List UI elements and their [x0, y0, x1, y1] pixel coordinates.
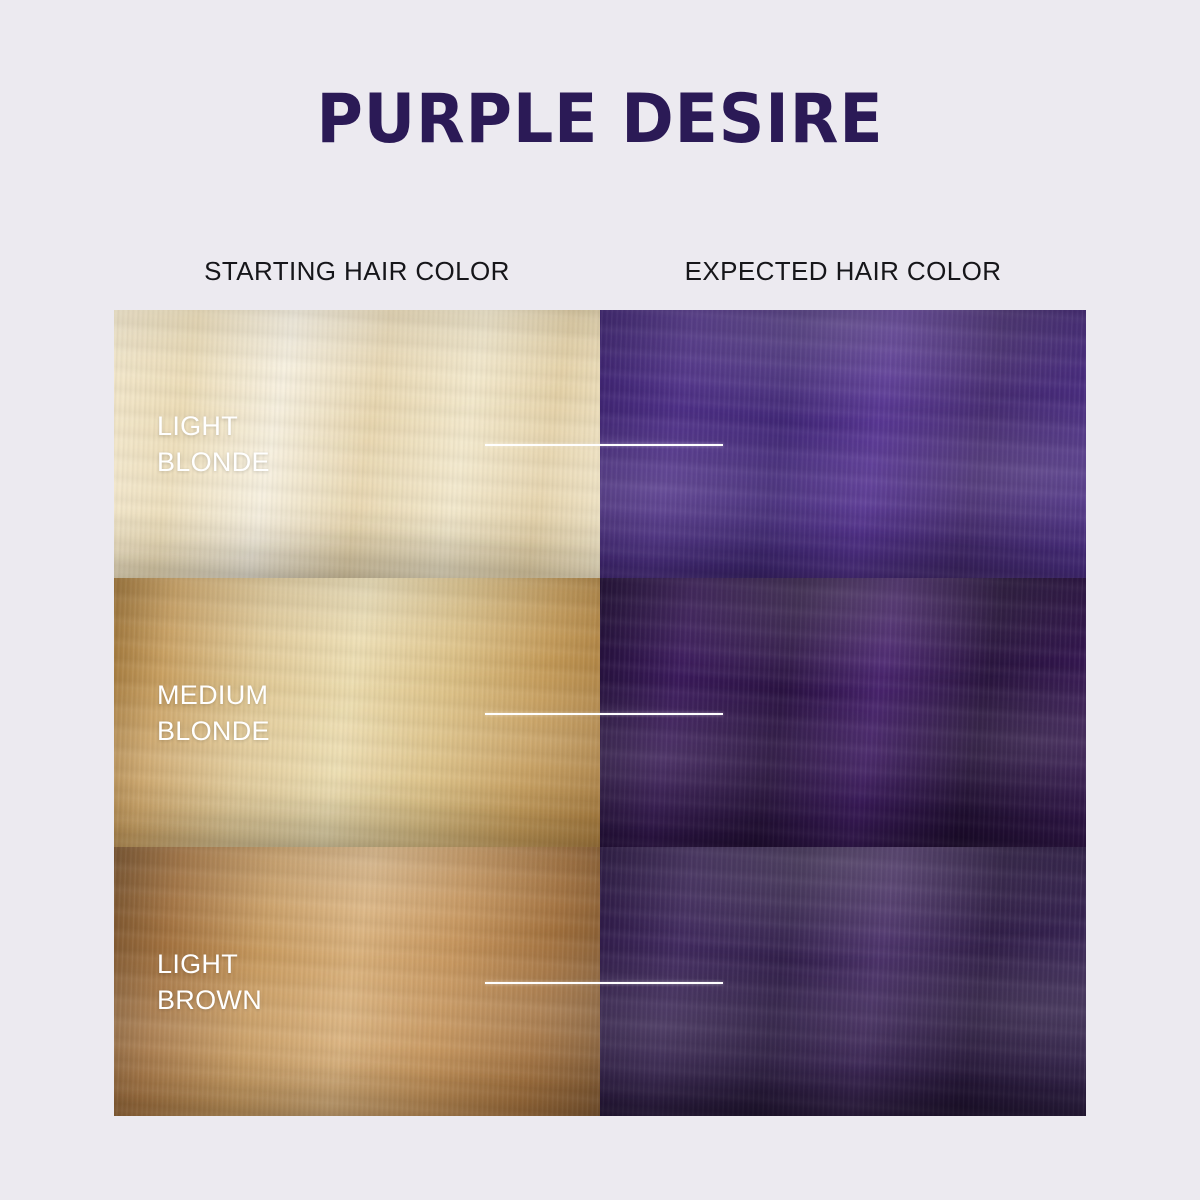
row-label-medium-blonde: MEDIUM BLONDE [157, 677, 270, 749]
row-label-light-brown: LIGHT BROWN [157, 946, 262, 1018]
row-label-light-blonde: LIGHT BLONDE [157, 408, 270, 480]
hair-color-comparison-grid: LIGHT BLONDE MEDIUM BLONDE LIGHT [114, 310, 1086, 1116]
column-headers: STARTING HAIR COLOR EXPECTED HAIR COLOR [114, 254, 1086, 290]
connector-line-medium-blonde [485, 713, 723, 715]
column-header-expected: EXPECTED HAIR COLOR [600, 254, 1086, 290]
comparison-row-medium-blonde: MEDIUM BLONDE [114, 578, 1086, 847]
column-header-starting: STARTING HAIR COLOR [114, 254, 600, 290]
comparison-row-light-blonde: LIGHT BLONDE [114, 310, 1086, 578]
connector-line-light-brown [485, 982, 723, 984]
comparison-row-light-brown: LIGHT BROWN [114, 847, 1086, 1116]
page-title: PURPLE DESIRE [42, 86, 1158, 154]
connector-line-light-blonde [485, 444, 723, 446]
